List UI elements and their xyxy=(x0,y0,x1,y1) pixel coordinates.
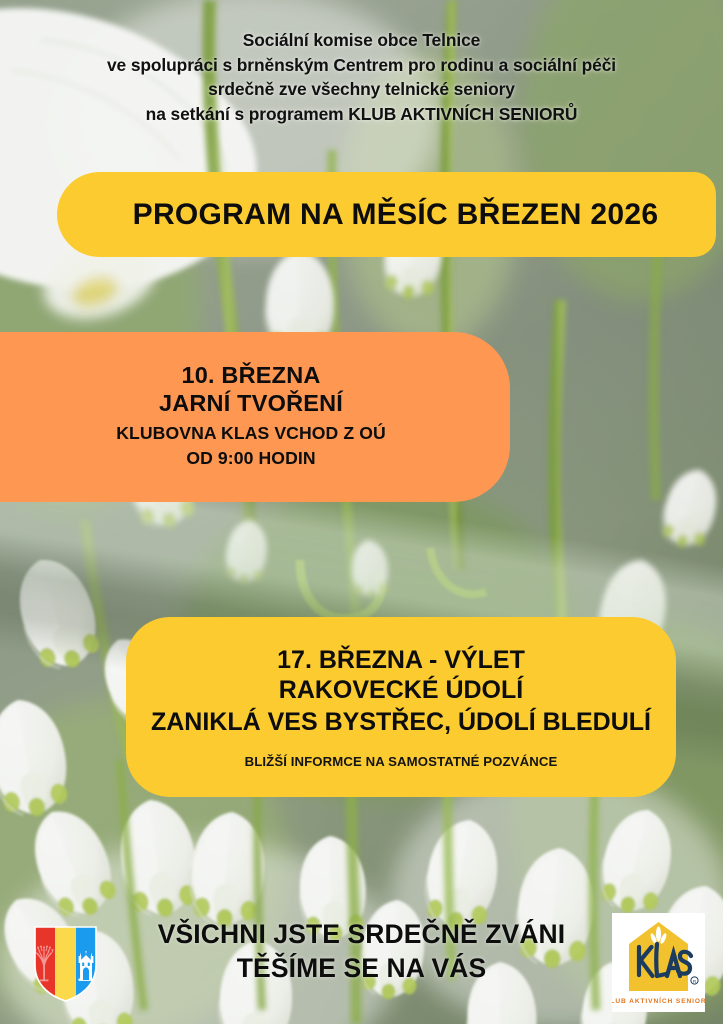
header-line-1: Sociální komise obce Telnice xyxy=(0,28,723,53)
event-1-time: OD 9:00 HODIN xyxy=(186,447,315,471)
event-2-detail: ZANIKLÁ VES BYSTŘEC, ÚDOLÍ BLEDULÍ xyxy=(151,707,651,739)
klas-logo: R KLUB AKTIVNÍCH SENIORŮ xyxy=(612,913,705,1012)
event-block-2: 17. BŘEZNA - VÝLET RAKOVECKÉ ÚDOLÍ ZANIK… xyxy=(126,617,676,797)
event-1-date: 10. BŘEZNA xyxy=(181,362,320,390)
program-title-text: PROGRAM NA MĚSÍC BŘEZEN 2026 xyxy=(133,198,659,232)
event-1-name: JARNÍ TVOŘENÍ xyxy=(159,389,343,419)
event-block-1: 10. BŘEZNA JARNÍ TVOŘENÍ KLUBOVNA KLAS V… xyxy=(0,332,510,502)
program-title-banner: PROGRAM NA MĚSÍC BŘEZEN 2026 xyxy=(57,172,716,257)
header-invitation-text: Sociální komise obce Telnice ve spoluprá… xyxy=(0,28,723,127)
event-2-note: BLIŽŠÍ INFORMCE NA SAMOSTATNÉ POZVÁNCE xyxy=(245,754,558,769)
event-2-date: 17. BŘEZNA - VÝLET xyxy=(277,645,525,676)
event-1-place: KLUBOVNA KLAS VCHOD Z OÚ xyxy=(116,421,386,447)
event-2-destination: RAKOVECKÉ ÚDOLÍ xyxy=(279,675,523,707)
poster-root: Sociální komise obce Telnice ve spoluprá… xyxy=(0,0,723,1024)
header-line-3: srdečně zve všechny telnické seniory xyxy=(0,77,723,102)
header-line-4: na setkání s programem KLUB AKTIVNÍCH SE… xyxy=(0,102,723,127)
header-line-2: ve spolupráci s brněnským Centrem pro ro… xyxy=(0,53,723,78)
background-photo xyxy=(0,0,723,1024)
telnice-coat-of-arms-icon xyxy=(33,925,98,1003)
